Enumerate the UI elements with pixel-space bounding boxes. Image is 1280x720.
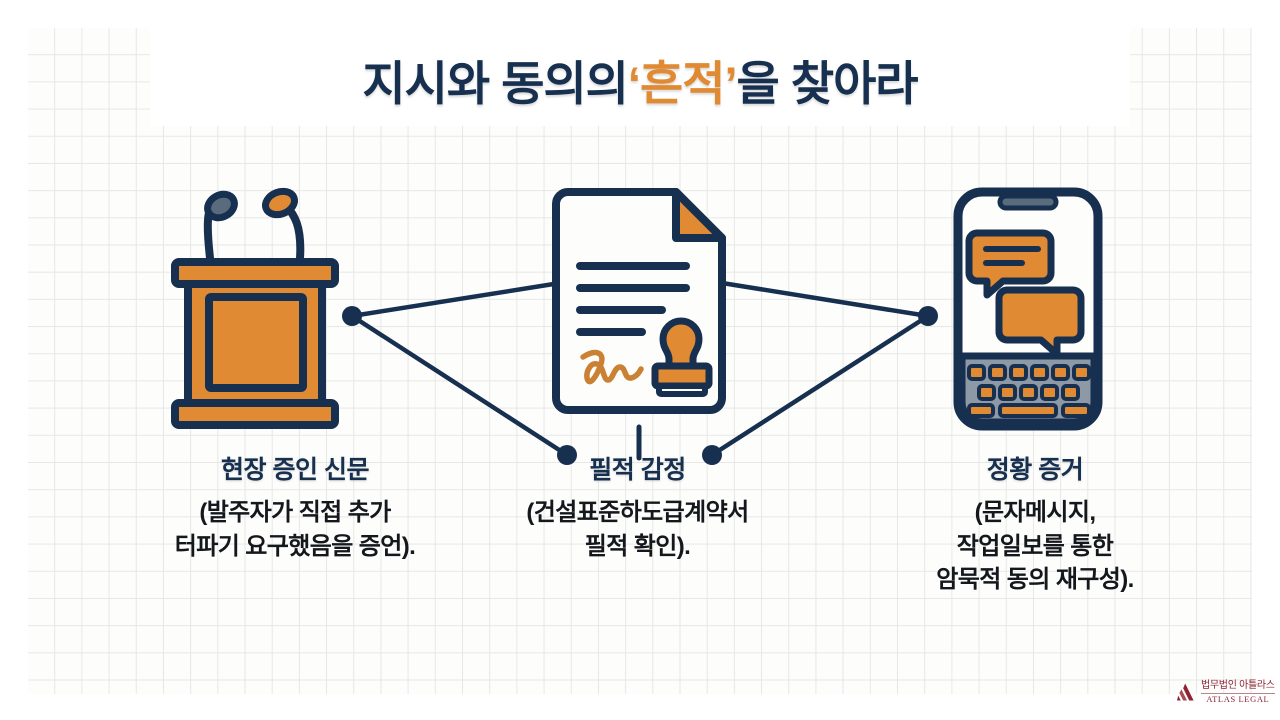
atlas-mountain-logo-icon: [1176, 682, 1196, 702]
slide-title-suffix: 을 찾아라: [737, 57, 918, 110]
column-detail: (발주자가 직접 추가 터파기 요구했음을 증언).: [95, 496, 495, 563]
column-circumstantial-evidence: 정황 증거 (문자메시지, 작업일보를 통한 암묵적 동의 재구성).: [835, 455, 1235, 597]
logo-english-name: ATLAS LEGAL: [1201, 694, 1275, 704]
column-detail: (건설표준하도급계약서 필적 확인).: [455, 496, 820, 563]
column-handwriting-analysis: 필적 감정 (건설표준하도급계약서 필적 확인).: [455, 455, 820, 563]
grid-margin-top: [0, 0, 1280, 28]
slide-title: 지시와 동의의‘흔적’을 찾아라: [0, 45, 1280, 114]
column-heading: 현장 증인 신문: [95, 455, 495, 486]
column-heading: 정황 증거: [835, 455, 1235, 486]
brand-logo: 법무법인 아틀라스 ATLAS LEGAL: [1176, 681, 1275, 703]
column-witness-examination: 현장 증인 신문 (발주자가 직접 추가 터파기 요구했음을 증언).: [95, 455, 495, 563]
logo-korean-name: 법무법인 아틀라스: [1201, 681, 1275, 694]
logo-wordmark: 법무법인 아틀라스 ATLAS LEGAL: [1201, 681, 1275, 703]
slide-title-prefix: 지시와 동의의: [362, 57, 628, 110]
grid-margin-bottom: [0, 694, 1280, 720]
slide-title-highlight: ‘흔적’: [628, 57, 737, 110]
column-detail: (문자메시지, 작업일보를 통한 암묵적 동의 재구성).: [835, 496, 1235, 597]
slide-canvas: 지시와 동의의‘흔적’을 찾아라: [0, 0, 1280, 720]
column-heading: 필적 감정: [455, 455, 820, 486]
